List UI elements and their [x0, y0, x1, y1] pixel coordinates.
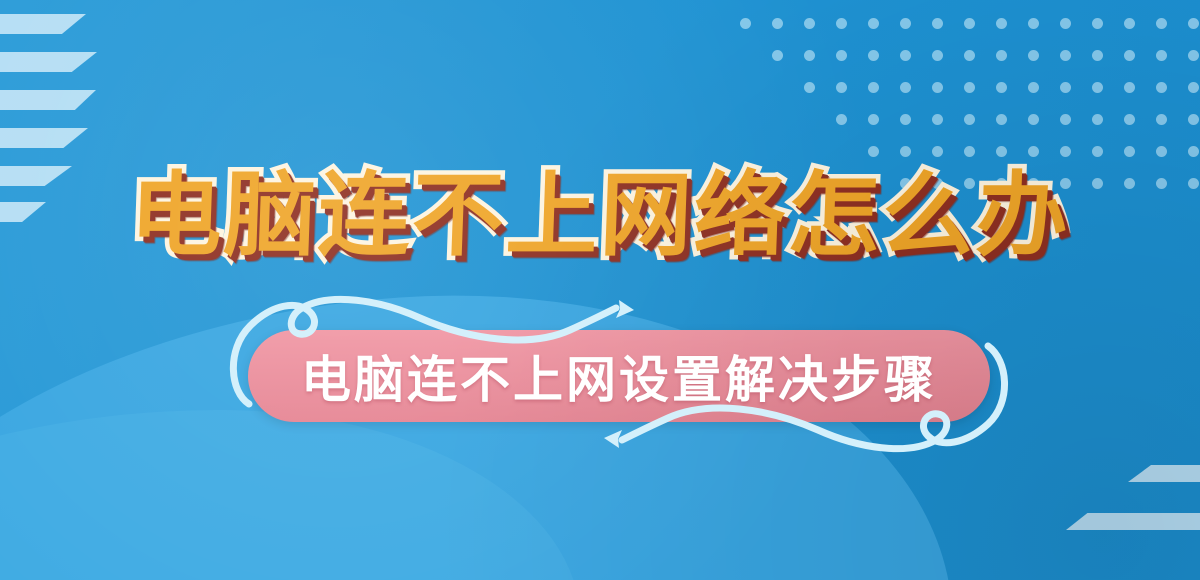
- dot: [1124, 50, 1135, 61]
- dot: [740, 18, 751, 29]
- dot: [772, 18, 783, 29]
- dot: [1188, 18, 1199, 29]
- dot: [836, 50, 847, 61]
- dot: [996, 114, 1007, 125]
- dot: [772, 50, 783, 61]
- dot: [1188, 146, 1199, 157]
- dot: [900, 50, 911, 61]
- dot: [1188, 50, 1199, 61]
- dot: [932, 146, 943, 157]
- dot: [900, 82, 911, 93]
- dot: [1028, 82, 1039, 93]
- dot: [804, 18, 815, 29]
- dot: [1060, 146, 1071, 157]
- stripe-bar: [0, 14, 86, 34]
- dot: [1060, 50, 1071, 61]
- headline-container: 电脑连不上网络怎么办: [0, 168, 1200, 265]
- dot: [868, 50, 879, 61]
- dot: [1060, 18, 1071, 29]
- dot: [1060, 82, 1071, 93]
- dot: [900, 146, 911, 157]
- stripes-bottom-right: [980, 434, 1200, 544]
- dot-row: [868, 142, 1200, 153]
- dot-row: [836, 110, 1200, 121]
- dot: [804, 50, 815, 61]
- dot: [1028, 18, 1039, 29]
- dot: [1156, 50, 1167, 61]
- dot: [836, 18, 847, 29]
- dot: [836, 82, 847, 93]
- dot-row: [804, 78, 1200, 89]
- stripe-bar: [1128, 465, 1200, 482]
- dot: [996, 18, 1007, 29]
- dot: [868, 82, 879, 93]
- dot: [900, 114, 911, 125]
- dot-row: [772, 46, 1200, 57]
- dot: [1028, 50, 1039, 61]
- stripe-bar: [1066, 513, 1200, 530]
- dot: [964, 114, 975, 125]
- dot: [1188, 82, 1199, 93]
- dot: [932, 82, 943, 93]
- dot: [996, 146, 1007, 157]
- dot: [932, 50, 943, 61]
- subtitle-text: 电脑连不上网设置解决步骤: [301, 340, 937, 412]
- dot: [1156, 18, 1167, 29]
- dot: [964, 18, 975, 29]
- dot: [1092, 18, 1103, 29]
- dot: [868, 114, 879, 125]
- dot: [868, 146, 879, 157]
- page-title: 电脑连不上网络怎么办: [128, 168, 1071, 265]
- dot: [1156, 114, 1167, 125]
- stripe-bar: [0, 128, 88, 148]
- dot: [1156, 82, 1167, 93]
- dot-row: [740, 14, 1200, 25]
- dot: [1092, 114, 1103, 125]
- dot: [1028, 114, 1039, 125]
- stripe-bar: [0, 90, 96, 110]
- promo-banner: 电脑连不上网络怎么办 电脑连不上网设置解决步骤: [0, 0, 1200, 580]
- stripe-bar: [0, 52, 97, 72]
- dot: [996, 82, 1007, 93]
- dot: [1124, 114, 1135, 125]
- dot: [868, 18, 879, 29]
- dot: [1028, 146, 1039, 157]
- dot: [1156, 146, 1167, 157]
- dot: [1092, 82, 1103, 93]
- dot: [1092, 146, 1103, 157]
- dot: [996, 50, 1007, 61]
- dot: [804, 82, 815, 93]
- dot: [964, 50, 975, 61]
- dot: [900, 18, 911, 29]
- dot: [1124, 146, 1135, 157]
- dot: [964, 146, 975, 157]
- dot: [1060, 114, 1071, 125]
- dot: [1124, 18, 1135, 29]
- dot: [1124, 82, 1135, 93]
- dot: [932, 18, 943, 29]
- subtitle-banner: 电脑连不上网设置解决步骤: [248, 330, 990, 422]
- dot: [1188, 114, 1199, 125]
- dot: [836, 114, 847, 125]
- dot: [932, 114, 943, 125]
- dot: [1092, 50, 1103, 61]
- dot: [964, 82, 975, 93]
